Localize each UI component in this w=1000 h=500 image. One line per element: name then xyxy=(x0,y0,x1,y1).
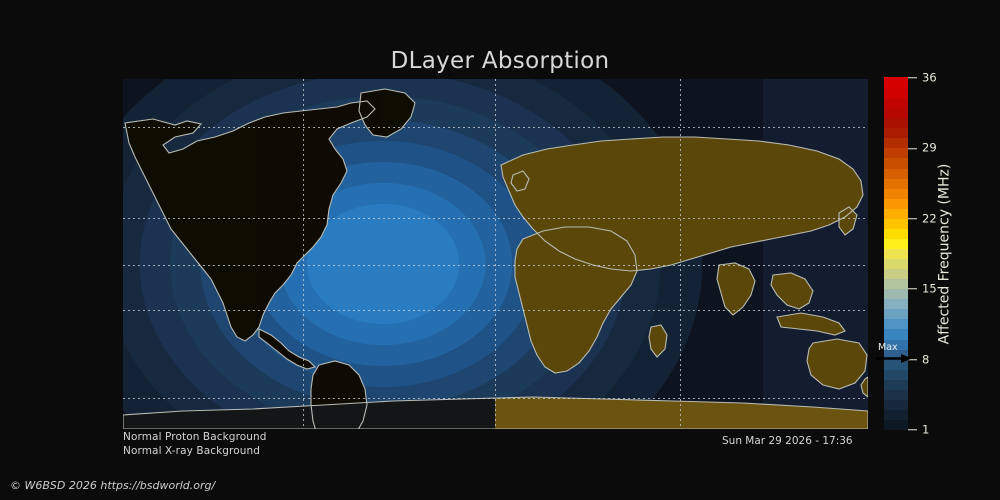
colorbar-segment xyxy=(884,228,908,239)
colorbar-segment xyxy=(884,77,908,88)
max-marker-label: Max xyxy=(878,343,898,353)
colorbar-tick: 1 xyxy=(908,424,929,436)
colorbar-segment xyxy=(884,138,908,149)
status-xray-background: Normal X-ray Background xyxy=(123,445,260,457)
colorbar-tick-dash xyxy=(908,218,917,219)
timestamp: Sun Mar 29 2026 - 17:36 xyxy=(722,435,853,447)
colorbar-segment xyxy=(884,389,908,400)
colorbar-segment xyxy=(884,87,908,98)
colorbar-segment xyxy=(884,258,908,269)
colorbar-segment xyxy=(884,309,908,320)
max-value-marker: Max xyxy=(869,343,915,365)
colorbar-segment xyxy=(884,369,908,380)
colorbar-tick-dash xyxy=(908,289,917,290)
world-map[interactable] xyxy=(123,79,868,429)
colorbar-tick-dash xyxy=(908,78,917,79)
day-land-fill xyxy=(123,89,868,429)
colorbar-segment xyxy=(884,269,908,280)
continents-layer xyxy=(123,79,868,429)
colorbar-segment xyxy=(884,319,908,330)
status-proton-background: Normal Proton Background xyxy=(123,431,267,443)
colorbar-segment xyxy=(884,399,908,410)
colorbar-segment xyxy=(884,419,908,430)
colorbar-segment xyxy=(884,238,908,249)
colorbar-segment xyxy=(884,208,908,219)
credit-line: © W6BSD 2026 https://bsdworld.org/ xyxy=(10,479,215,492)
colorbar-segment xyxy=(884,158,908,169)
max-arrow-icon xyxy=(876,354,912,363)
colorbar-segment xyxy=(884,379,908,390)
colorbar-segment xyxy=(884,279,908,290)
colorbar-tick-label: 1 xyxy=(922,424,929,436)
page-title: DLayer Absorption xyxy=(0,48,1000,74)
colorbar xyxy=(884,78,908,430)
colorbar-segment xyxy=(884,168,908,179)
colorbar-tick-label: 8 xyxy=(922,354,929,366)
colorbar-segment xyxy=(884,409,908,420)
colorbar-tick-dash xyxy=(908,148,917,149)
colorbar-axis-label: Affected Frequency (MHz) xyxy=(932,78,956,430)
colorbar-segment xyxy=(884,98,908,109)
colorbar-tick-dash xyxy=(908,430,917,431)
colorbar-segment xyxy=(884,198,908,209)
colorbar-segment xyxy=(884,188,908,199)
coastline-svg xyxy=(123,79,868,429)
colorbar-segment xyxy=(884,248,908,259)
colorbar-segment xyxy=(884,178,908,189)
colorbar-segment xyxy=(884,128,908,139)
colorbar-segment xyxy=(884,289,908,300)
colorbar-segment xyxy=(884,329,908,340)
colorbar-segment xyxy=(884,118,908,129)
colorbar-segment xyxy=(884,108,908,119)
colorbar-segment xyxy=(884,218,908,229)
colorbar-gradient xyxy=(884,78,908,430)
dlayer-absorption-page: DLayer Absorption xyxy=(0,0,1000,500)
colorbar-axis-label-text: Affected Frequency (MHz) xyxy=(936,164,952,345)
colorbar-segment xyxy=(884,299,908,310)
colorbar-segment xyxy=(884,148,908,159)
